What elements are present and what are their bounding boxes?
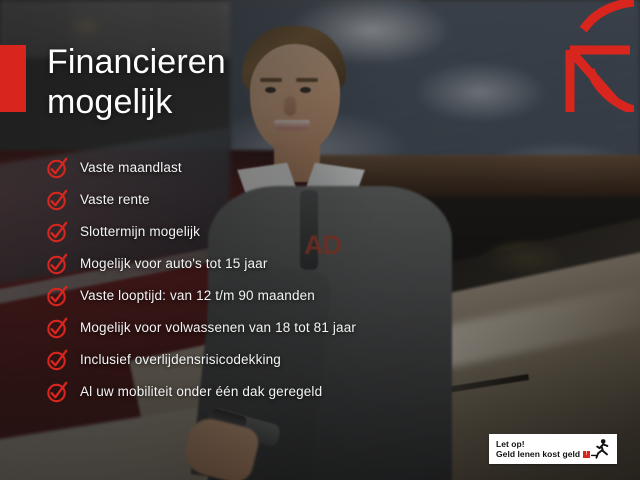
list-item: Mogelijk voor auto's tot 15 jaar [46, 248, 356, 280]
list-item: Mogelijk voor volwassenen van 18 tot 81 … [46, 312, 356, 344]
list-item: Vaste maandlast [46, 152, 356, 184]
list-item: Vaste rente [46, 184, 356, 216]
list-item-label: Inclusief overlijdensrisicodekking [80, 352, 281, 368]
list-item: Slottermijn mogelijk [46, 216, 356, 248]
financing-promo-banner: AD Financieren mogelijk [0, 0, 640, 480]
list-item-label: Vaste maandlast [80, 160, 182, 176]
list-item-label: Mogelijk voor auto's tot 15 jaar [80, 256, 267, 272]
list-item: Inclusief overlijdensrisicodekking [46, 344, 356, 376]
headline-line-2: mogelijk [47, 82, 347, 122]
walking-person-icon [591, 438, 611, 460]
list-item: Al uw mobiliteit onder één dak geregeld [46, 376, 356, 408]
check-circle-icon [46, 157, 68, 179]
warning-line-1: Let op! [496, 439, 583, 450]
check-circle-icon [46, 253, 68, 275]
check-circle-icon [46, 349, 68, 371]
warning-line-2: Geld lenen kost geld [496, 449, 583, 460]
check-circle-icon [46, 285, 68, 307]
list-item-label: Al uw mobiliteit onder één dak geregeld [80, 384, 322, 400]
check-circle-icon [46, 221, 68, 243]
warning-glyph-group: ! [583, 438, 611, 460]
list-item-label: Mogelijk voor volwassenen van 18 tot 81 … [80, 320, 356, 336]
list-item-label: Vaste looptijd: van 12 t/m 90 maanden [80, 288, 315, 304]
check-circle-icon [46, 189, 68, 211]
warning-exclamation-icon: ! [583, 451, 590, 458]
headline-line-1: Financieren [47, 42, 347, 82]
page-title: Financieren mogelijk [47, 42, 347, 122]
status-badge: Let op! Geld lenen kost geld ! [489, 434, 617, 464]
red-accent-block [0, 45, 26, 112]
warning-text: Let op! Geld lenen kost geld [496, 439, 583, 460]
check-circle-icon [46, 317, 68, 339]
feature-list: Vaste maandlast Vaste rente Slottermijn … [46, 152, 356, 408]
check-circle-icon [46, 381, 68, 403]
red-arc-logo-icon [552, 0, 634, 112]
list-item-label: Slottermijn mogelijk [80, 224, 200, 240]
list-item: Vaste looptijd: van 12 t/m 90 maanden [46, 280, 356, 312]
list-item-label: Vaste rente [80, 192, 150, 208]
